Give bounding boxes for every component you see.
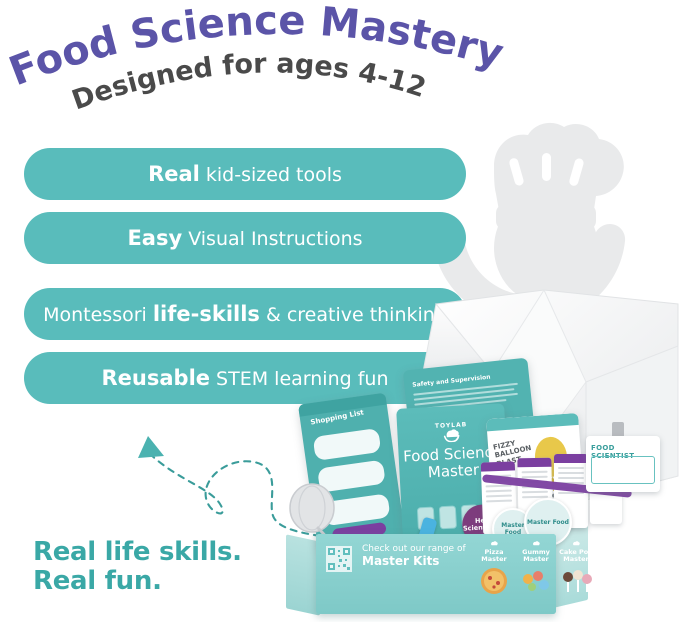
gummy-image (516, 565, 556, 595)
sheet-header (554, 454, 588, 463)
box-cta-big: Master Kits (362, 555, 472, 568)
cakepop-image (556, 565, 596, 595)
mini-kit-gummy: Gummy Master (514, 540, 558, 599)
tagline: Real life skills. Real fun. (33, 538, 242, 596)
feature-text: Easy Visual Instructions (127, 228, 362, 249)
feature-text: Real kid-sized tools (148, 164, 342, 185)
mini-kit-label: Cake Pop Master (554, 549, 598, 564)
feature-pill-real: Real kid-sized tools (24, 148, 466, 200)
toylab-chef-logo-watermark (432, 96, 662, 311)
box-cta-small: Check out our range of (362, 544, 466, 554)
toylab-mini-icon (572, 540, 580, 548)
feature-pill-easy: Easy Visual Instructions (24, 212, 466, 264)
sheet-header (481, 461, 515, 471)
mini-kit-label: Pizza Master (472, 549, 516, 564)
box-left-flap (286, 534, 320, 615)
product-photo: Shopping List Safety and Supervision TOY… (286, 286, 679, 622)
mini-kit-cakepop: Cake Pop Master (554, 540, 598, 599)
toylab-mini-icon (532, 540, 540, 548)
page-title: Food Science Mastery (3, 0, 508, 95)
headline-block: Food Science Mastery Designed for ages 4… (0, 0, 679, 120)
mini-kit-label: Gummy Master (514, 549, 558, 564)
marketing-image: Food Science Mastery Designed for ages 4… (0, 0, 679, 622)
box-cta-text: Check out our range of Master Kits (362, 544, 472, 569)
toylab-chef-icon (443, 428, 460, 443)
tagline-line-2: Real fun. (33, 567, 242, 596)
tagline-line-1: Real life skills. (33, 538, 242, 567)
pizza-image (474, 565, 514, 595)
qr-code-icon (326, 546, 352, 572)
mini-kit-pizza: Pizza Master (472, 540, 516, 599)
food-scientist-badge: FOOD SCIENTIST (586, 436, 660, 492)
sheet-header (517, 458, 551, 468)
toylab-mini-icon (490, 540, 498, 548)
badge-name-field (591, 456, 655, 484)
